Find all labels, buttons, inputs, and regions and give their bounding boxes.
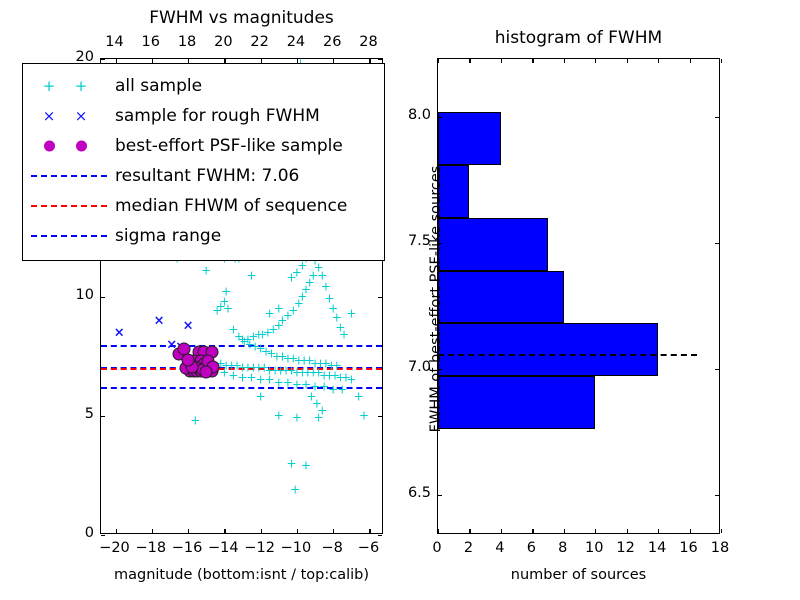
figure-canvas: FWHM vs magnitudes +++++++++++++++++++++…	[0, 0, 800, 600]
ytick-label-right-0: 6.5	[383, 485, 431, 501]
all-sample-point: +	[281, 370, 291, 371]
all-sample-point: +	[359, 416, 369, 417]
xtick-right-6	[627, 529, 628, 533]
all-sample-point: +	[219, 373, 229, 374]
all-sample-point: +	[250, 346, 260, 347]
ytick-right-0	[438, 495, 442, 496]
all-sample-point: +	[335, 327, 345, 328]
psf-sample-point	[192, 345, 205, 358]
all-sample-point: +	[219, 301, 229, 302]
xtick-right-4	[564, 529, 565, 533]
all-sample-point: +	[237, 377, 247, 378]
xtick-right-top-9	[721, 59, 722, 63]
all-sample-point: +	[268, 330, 278, 331]
all-sample-point: +	[247, 275, 257, 276]
xtick-right-top-6	[627, 59, 628, 63]
all-sample-point: +	[308, 275, 318, 276]
all-sample-point: +	[243, 339, 253, 340]
psf-sample-point	[194, 355, 207, 368]
xtick-right-top-2	[501, 59, 502, 63]
rough-fwhm-point: ×	[175, 346, 186, 347]
all-sample-point: +	[265, 380, 275, 381]
ytick-left-2	[101, 297, 105, 298]
all-sample-point: +	[301, 385, 311, 386]
right-panel-title: histogram of FWHM	[437, 28, 720, 48]
dashdot-line-icon	[31, 235, 107, 237]
all-sample-point: +	[286, 277, 296, 278]
legend-row: best-effort PSF-like sample	[23, 131, 384, 161]
legend-box: ++all sample××sample for rough FWHMbest-…	[22, 63, 385, 261]
all-sample-point: +	[330, 375, 340, 376]
all-sample-point: +	[274, 308, 284, 309]
all-sample-point: +	[228, 375, 238, 376]
legend-label: median FHWM of sequence	[115, 196, 347, 216]
filled-circle-icon	[76, 141, 87, 152]
all-sample-point: +	[317, 411, 327, 412]
ytick-left-right-2	[378, 297, 382, 298]
all-sample-point: +	[216, 363, 226, 364]
legend-key	[23, 161, 115, 191]
all-sample-point: +	[339, 335, 349, 336]
legend-key	[23, 191, 115, 221]
all-sample-point: +	[314, 418, 324, 419]
xtick-right-8	[690, 529, 691, 533]
xtick-bottom-5	[297, 529, 298, 533]
psf-sample-point	[205, 345, 218, 358]
all-sample-point: +	[346, 313, 356, 314]
ytick-label-right-2: 7.5	[383, 233, 431, 249]
all-sample-point: +	[265, 313, 275, 314]
rough-fwhm-point: ×	[183, 325, 194, 326]
all-sample-point: +	[277, 356, 287, 357]
all-sample-point: +	[248, 337, 258, 338]
xtick-right-0	[438, 529, 439, 533]
histogram-bar	[438, 323, 658, 376]
ytick-left-right-3	[378, 59, 382, 60]
psf-sample-point	[187, 355, 200, 368]
all-sample-point: +	[292, 273, 302, 274]
xtick-bottom-4	[261, 529, 262, 533]
all-sample-point: +	[328, 308, 338, 309]
all-sample-point: +	[301, 465, 311, 466]
all-sample-point: +	[277, 320, 287, 321]
legend-row: ++all sample	[23, 71, 384, 101]
ytick-right-2	[438, 243, 442, 244]
all-sample-point: +	[283, 316, 293, 317]
all-sample-point: +	[263, 332, 273, 333]
xtick-right-top-1	[469, 59, 470, 63]
legend-label: sigma range	[115, 226, 221, 246]
all-sample-point: +	[276, 370, 286, 371]
all-sample-point: +	[321, 287, 331, 288]
all-sample-point: +	[292, 418, 302, 419]
legend-row: ××sample for rough FWHM	[23, 101, 384, 131]
all-sample-point: +	[272, 356, 282, 357]
all-sample-point: +	[292, 373, 302, 374]
ytick-right-r-0	[715, 495, 719, 496]
all-sample-point: +	[328, 389, 338, 390]
all-sample-point: +	[297, 297, 307, 298]
xtick-right-7	[658, 529, 659, 533]
all-sample-point: +	[286, 463, 296, 464]
all-sample-point: +	[337, 389, 347, 390]
xtick-bottom-1	[152, 529, 153, 533]
xtick-right-top-3	[532, 59, 533, 63]
dashed-line-icon	[31, 205, 107, 207]
histogram-bar	[438, 376, 595, 429]
rough-fwhm-point: ×	[154, 320, 165, 321]
legend-row: median FHWM of sequence	[23, 191, 384, 221]
all-sample-point: +	[274, 325, 284, 326]
right-panel-ylabel: FWHM of best-effort PSF-like sources	[428, 149, 446, 449]
psf-sample-point	[198, 345, 211, 358]
ytick-left-right-1	[378, 416, 382, 417]
xtick-right-2	[501, 529, 502, 533]
fwhm-histogram-axes	[437, 58, 720, 534]
ytick-left-right-0	[378, 535, 382, 536]
plus-icon: +	[75, 77, 88, 95]
all-sample-point: +	[234, 337, 244, 338]
all-sample-point: +	[256, 396, 266, 397]
xtick-label-right-9: 18	[695, 540, 745, 556]
all-sample-point: +	[239, 342, 249, 343]
all-sample-point: +	[228, 330, 238, 331]
all-sample-point: +	[216, 306, 226, 307]
all-sample-point: +	[261, 351, 271, 352]
all-sample-point: +	[247, 377, 257, 378]
ytick-label-left-2: 10	[46, 287, 94, 303]
ytick-label-right-3: 8.0	[383, 107, 431, 123]
all-sample-point: +	[266, 354, 276, 355]
all-sample-point: +	[265, 370, 275, 371]
psf-sample-point	[202, 355, 215, 368]
all-sample-point: +	[288, 358, 298, 359]
all-sample-point: +	[335, 377, 345, 378]
all-sample-point: +	[290, 489, 300, 490]
all-sample-point: +	[294, 304, 304, 305]
xtick-right-top-4	[564, 59, 565, 63]
all-sample-point: +	[223, 308, 233, 309]
all-sample-point: +	[308, 373, 318, 374]
all-sample-point: +	[321, 363, 331, 364]
all-sample-point: +	[297, 373, 307, 374]
ytick-label-right-1: 7.0	[383, 359, 431, 375]
legend-key: ++	[23, 71, 115, 101]
all-sample-point: +	[317, 275, 327, 276]
all-sample-point: +	[256, 349, 266, 350]
xtick-bottom-2	[188, 529, 189, 533]
all-sample-point: +	[256, 380, 266, 381]
legend-label: sample for rough FWHM	[115, 106, 320, 126]
all-sample-point: +	[305, 361, 315, 362]
all-sample-point: +	[201, 270, 211, 271]
all-sample-point: +	[312, 404, 322, 405]
left-panel-xlabel: magnitude (bottom:isnt / top:calib)	[100, 567, 383, 583]
psf-sample-point	[182, 354, 195, 367]
xtick-right-1	[469, 529, 470, 533]
legend-key: ××	[23, 101, 115, 131]
legend-key	[23, 221, 115, 251]
all-sample-point: +	[257, 335, 267, 336]
ytick-left-0	[101, 535, 105, 536]
ytick-left-1	[101, 416, 105, 417]
xtick-right-3	[532, 529, 533, 533]
xtick-label-top-7: 28	[343, 34, 393, 50]
psf-sample-point	[173, 348, 186, 361]
xtick-right-top-0	[438, 59, 439, 63]
all-sample-point: +	[274, 382, 284, 383]
all-sample-point: +	[221, 292, 231, 293]
xtick-right-5	[595, 529, 596, 533]
xtick-right-top-7	[658, 59, 659, 63]
all-sample-point: +	[286, 370, 296, 371]
left-panel-title: FWHM vs magnitudes	[100, 8, 383, 28]
reference-line-3	[101, 387, 382, 389]
all-sample-point: +	[325, 375, 335, 376]
xtick-bottom-3	[224, 529, 225, 533]
legend-row: resultant FWHM: 7.06	[23, 161, 384, 191]
legend-row: sigma range	[23, 221, 384, 251]
histogram-bar	[438, 271, 564, 324]
legend-label: best-effort PSF-like sample	[115, 136, 343, 156]
all-sample-point: +	[346, 380, 356, 381]
xtick-right-9	[721, 529, 722, 533]
xtick-right-top-5	[595, 59, 596, 63]
ytick-right-r-1	[715, 369, 719, 370]
all-sample-point: +	[303, 373, 313, 374]
xtick-bottom-7	[369, 529, 370, 533]
plus-icon: +	[43, 77, 56, 95]
legend-label: resultant FWHM: 7.06	[115, 166, 299, 186]
all-sample-point: +	[332, 318, 342, 319]
dashed-line-icon	[31, 175, 107, 177]
ytick-label-left-1: 5	[46, 406, 94, 422]
all-sample-point: +	[254, 335, 264, 336]
ytick-label-left-0: 0	[46, 525, 94, 541]
legend-key	[23, 131, 115, 161]
xtick-bottom-6	[333, 529, 334, 533]
ytick-right-r-2	[715, 243, 719, 244]
all-sample-point: +	[292, 385, 302, 386]
all-sample-point: +	[341, 377, 351, 378]
all-sample-point: +	[294, 361, 304, 362]
all-sample-point: +	[237, 339, 247, 340]
right-panel-xlabel: number of sources	[437, 567, 720, 583]
reference-line-2	[101, 345, 382, 347]
all-sample-point: +	[274, 416, 284, 417]
all-sample-point: +	[310, 363, 320, 364]
all-sample-point: +	[283, 382, 293, 383]
all-sample-point: +	[314, 268, 324, 269]
xtick-bottom-0	[116, 529, 117, 533]
all-sample-point: +	[299, 361, 309, 362]
ytick-right-r-3	[715, 117, 719, 118]
all-sample-point: +	[301, 289, 311, 290]
all-sample-point: +	[283, 358, 293, 359]
cross-icon: ×	[43, 107, 56, 125]
all-sample-point: +	[297, 266, 307, 267]
ytick-left-3	[101, 59, 105, 60]
all-sample-point: +	[305, 282, 315, 283]
all-sample-point: +	[270, 370, 280, 371]
all-sample-point: +	[319, 375, 329, 376]
rough-fwhm-point: ×	[114, 332, 125, 333]
xtick-label-bottom-7: −6	[343, 540, 393, 556]
cross-icon: ×	[75, 107, 88, 125]
ytick-right-1	[438, 369, 442, 370]
all-sample-point: +	[288, 311, 298, 312]
histogram-bar	[438, 218, 548, 271]
all-sample-point: +	[210, 370, 220, 371]
histogram-reference-line-0	[438, 354, 697, 356]
all-sample-point: +	[325, 299, 335, 300]
filled-circle-icon	[44, 141, 55, 152]
xtick-right-top-8	[690, 59, 691, 63]
all-sample-point: +	[354, 396, 364, 397]
legend-label: all sample	[115, 76, 202, 96]
histogram-bar	[438, 112, 501, 165]
all-sample-point: +	[212, 311, 222, 312]
reference-line-1	[101, 368, 382, 370]
all-sample-point: +	[314, 373, 324, 374]
all-sample-point: +	[315, 363, 325, 364]
all-sample-point: +	[190, 420, 200, 421]
all-sample-point: +	[306, 396, 316, 397]
ytick-right-3	[438, 117, 442, 118]
